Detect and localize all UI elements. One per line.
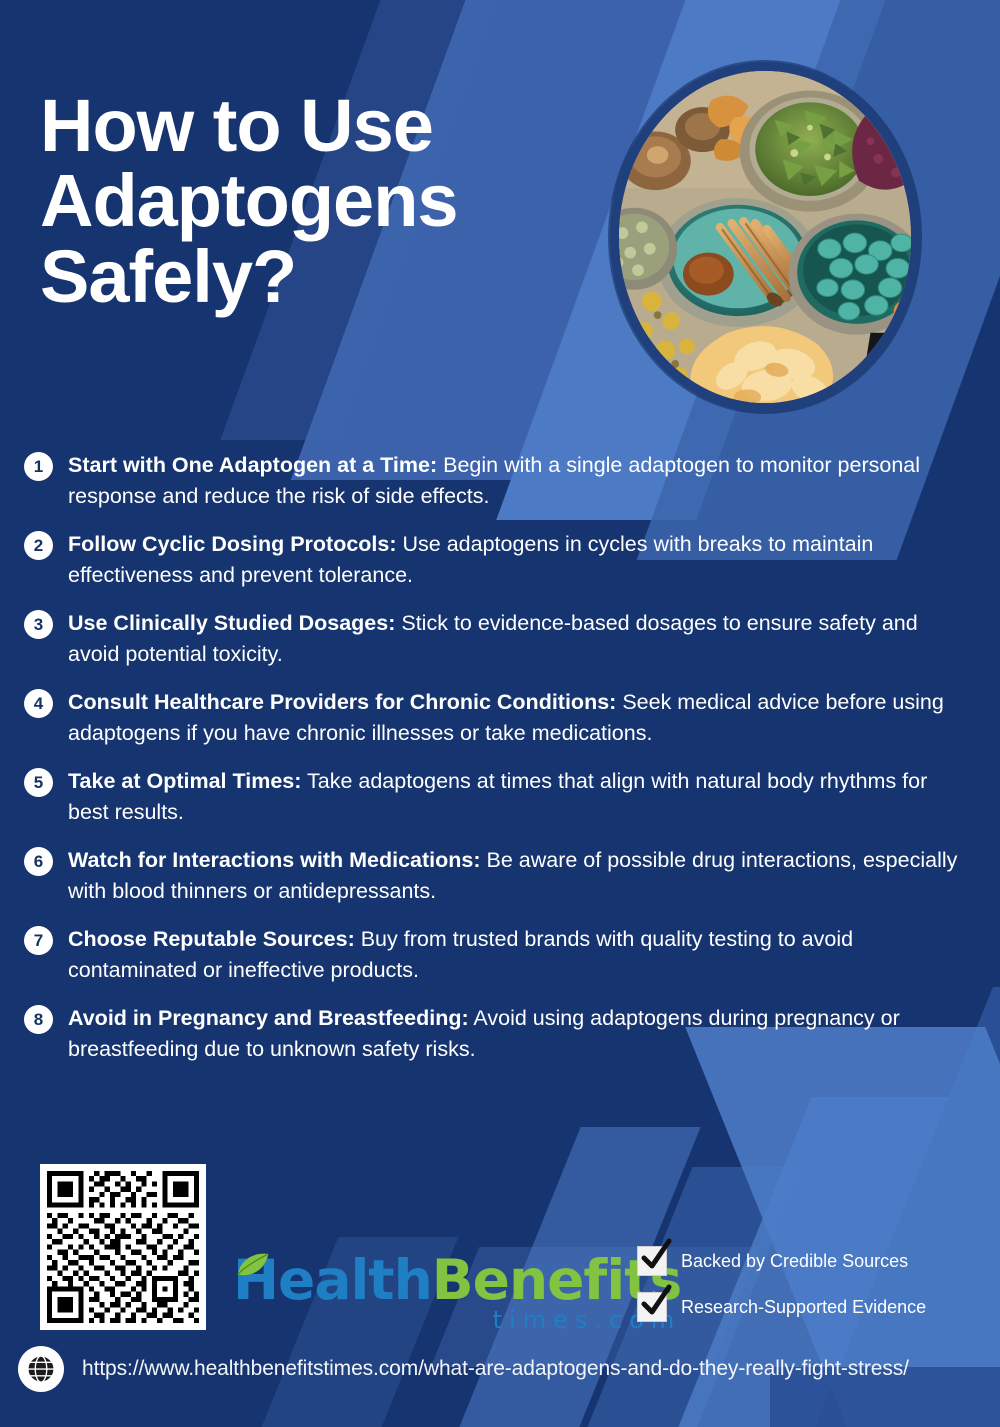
list-item: 3 Use Clinically Studied Dosages: Stick … bbox=[14, 608, 964, 669]
credibility-badge: Backed by Credible Sources bbox=[637, 1246, 908, 1276]
list-item: 6 Watch for Interactions with Medication… bbox=[14, 845, 964, 906]
list-item-number-badge: 8 bbox=[24, 1005, 53, 1034]
list-item-number-badge: 7 bbox=[24, 926, 53, 955]
list-item-number-badge: 4 bbox=[24, 689, 53, 718]
list-item-lead: Choose Reputable Sources: bbox=[68, 927, 355, 951]
infographic-poster: How to Use Adaptogens Safely? bbox=[0, 0, 1000, 1427]
list-item-lead: Follow Cyclic Dosing Protocols: bbox=[68, 532, 397, 556]
tips-list: 1 Start with One Adaptogen at a Time: Be… bbox=[0, 450, 1000, 1082]
source-url-text: https://www.healthbenefitstimes.com/what… bbox=[82, 1357, 909, 1381]
list-item-lead: Watch for Interactions with Medications: bbox=[68, 848, 481, 872]
list-item-number-badge: 5 bbox=[24, 768, 53, 797]
list-item: 8 Avoid in Pregnancy and Breastfeeding: … bbox=[14, 1003, 964, 1064]
list-item-lead: Take at Optimal Times: bbox=[68, 769, 301, 793]
hero-image-ring: M bbox=[610, 62, 920, 412]
credibility-badge-label: Backed by Credible Sources bbox=[681, 1251, 908, 1272]
checkbox-checked-icon[interactable] bbox=[637, 1292, 667, 1322]
page-title-line-1: How to Use bbox=[40, 88, 580, 163]
list-item-number-badge: 2 bbox=[24, 531, 53, 560]
list-item: 4 Consult Healthcare Providers for Chron… bbox=[14, 687, 964, 748]
list-item: 1 Start with One Adaptogen at a Time: Be… bbox=[14, 450, 964, 511]
checkbox-checked-icon[interactable] bbox=[637, 1246, 667, 1276]
list-item: 7 Choose Reputable Sources: Buy from tru… bbox=[14, 924, 964, 985]
source-url-row[interactable]: https://www.healthbenefitstimes.com/what… bbox=[18, 1346, 909, 1392]
list-item-lead: Consult Healthcare Providers for Chronic… bbox=[68, 690, 616, 714]
list-item: 2 Follow Cyclic Dosing Protocols: Use ad… bbox=[14, 529, 964, 590]
poster-header: How to Use Adaptogens Safely? bbox=[0, 0, 1000, 440]
page-title-line-2: Adaptogens bbox=[40, 163, 580, 238]
list-item: 5 Take at Optimal Times: Take adaptogens… bbox=[14, 766, 964, 827]
poster-footer: HealthBenefits times.com Backed by Credi… bbox=[0, 1150, 1000, 1427]
qr-code[interactable] bbox=[40, 1164, 206, 1330]
page-title-line-3: Safely? bbox=[40, 239, 580, 314]
list-item-lead: Start with One Adaptogen at a Time: bbox=[68, 453, 437, 477]
hero-image: M bbox=[619, 71, 911, 403]
list-item-number-badge: 6 bbox=[24, 847, 53, 876]
leaf-icon bbox=[236, 1252, 270, 1278]
list-item-lead: Use Clinically Studied Dosages: bbox=[68, 611, 395, 635]
site-logo[interactable]: HealthBenefits times.com bbox=[233, 1248, 681, 1334]
credibility-badge: Research-Supported Evidence bbox=[637, 1292, 926, 1322]
page-title: How to Use Adaptogens Safely? bbox=[40, 88, 580, 314]
globe-icon bbox=[18, 1346, 64, 1392]
list-item-number-badge: 3 bbox=[24, 610, 53, 639]
list-item-number-badge: 1 bbox=[24, 452, 53, 481]
list-item-lead: Avoid in Pregnancy and Breastfeeding: bbox=[68, 1006, 469, 1030]
credibility-badge-label: Research-Supported Evidence bbox=[681, 1297, 926, 1318]
svg-text:M: M bbox=[884, 358, 909, 388]
